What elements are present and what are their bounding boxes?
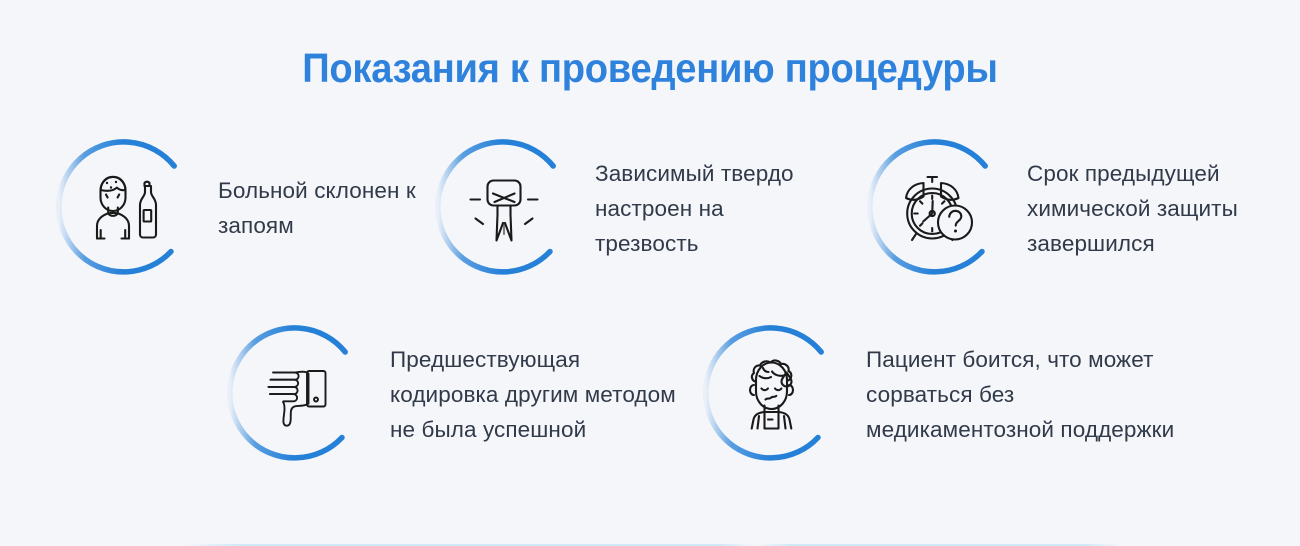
indication-text-4: Предшествующая кодировка другим методом … bbox=[390, 342, 676, 447]
infographic-root: Показания к проведению процедуры bbox=[0, 0, 1300, 546]
worried-person-icon bbox=[731, 354, 813, 434]
page-title: Показания к проведению процедуры bbox=[46, 44, 1255, 92]
indication-item-1: Больной склонен к запоям bbox=[53, 136, 416, 280]
indication-item-5: Пациент боится, что может сорваться без … bbox=[700, 322, 1174, 466]
indication-text-5: Пациент боится, что может сорваться без … bbox=[866, 342, 1174, 447]
indication-text-1: Больной склонен к запоям bbox=[218, 173, 416, 243]
indication-text-2: Зависимый твердо настроен на трезвость bbox=[595, 156, 794, 261]
determined-person-icon bbox=[460, 166, 548, 250]
icon-badge-5 bbox=[700, 322, 844, 466]
indication-text-3: Срок предыдущей химической защиты заверш… bbox=[1027, 156, 1238, 261]
icon-badge-3 bbox=[864, 136, 1008, 280]
thumbs-down-icon bbox=[257, 359, 335, 429]
alarm-clock-question-icon bbox=[893, 168, 979, 248]
icon-badge-1 bbox=[53, 136, 197, 280]
indication-item-3: Срок предыдущей химической защиты заверш… bbox=[864, 136, 1238, 280]
icon-badge-4 bbox=[224, 322, 368, 466]
man-with-bottle-icon bbox=[83, 166, 167, 250]
indication-item-4: Предшествующая кодировка другим методом … bbox=[224, 322, 676, 466]
icon-badge-2 bbox=[432, 136, 576, 280]
indication-item-2: Зависимый твердо настроен на трезвость bbox=[432, 136, 794, 280]
